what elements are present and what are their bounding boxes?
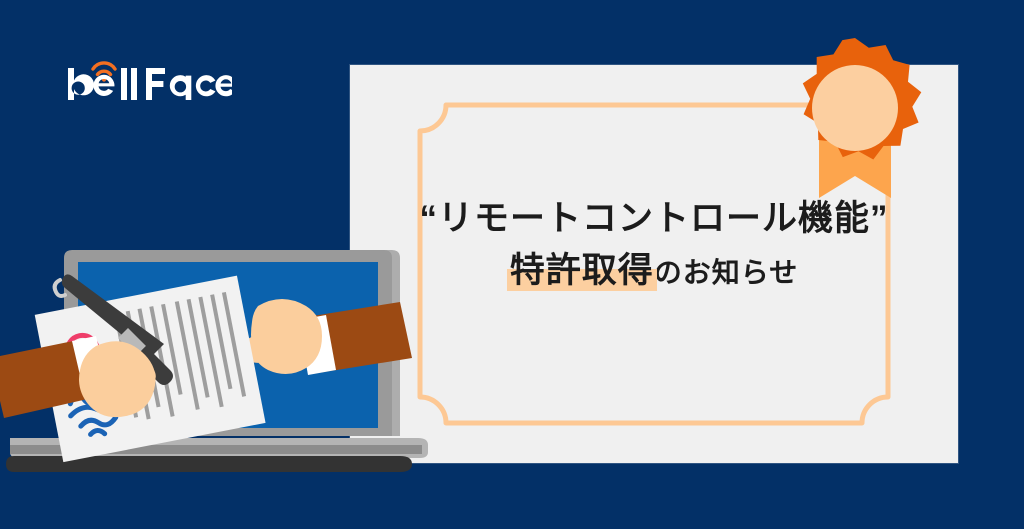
bellface-logo-mark <box>62 58 232 106</box>
headline-line-2: 特許取得のお知らせ <box>350 250 958 291</box>
bellface-logo <box>62 58 232 106</box>
contract-signing-illustration <box>0 240 440 490</box>
announcement-headline: “リモートコントロール機能” 特許取得のお知らせ <box>350 198 958 292</box>
headline-highlight: 特許取得 <box>510 250 654 291</box>
announcement-banner: “リモートコントロール機能” 特許取得のお知らせ <box>0 0 1024 529</box>
medal-inner-circle <box>812 65 898 151</box>
right-hand <box>251 299 322 374</box>
award-medal-icon <box>775 30 935 210</box>
headline-suffix: のお知らせ <box>654 257 798 288</box>
